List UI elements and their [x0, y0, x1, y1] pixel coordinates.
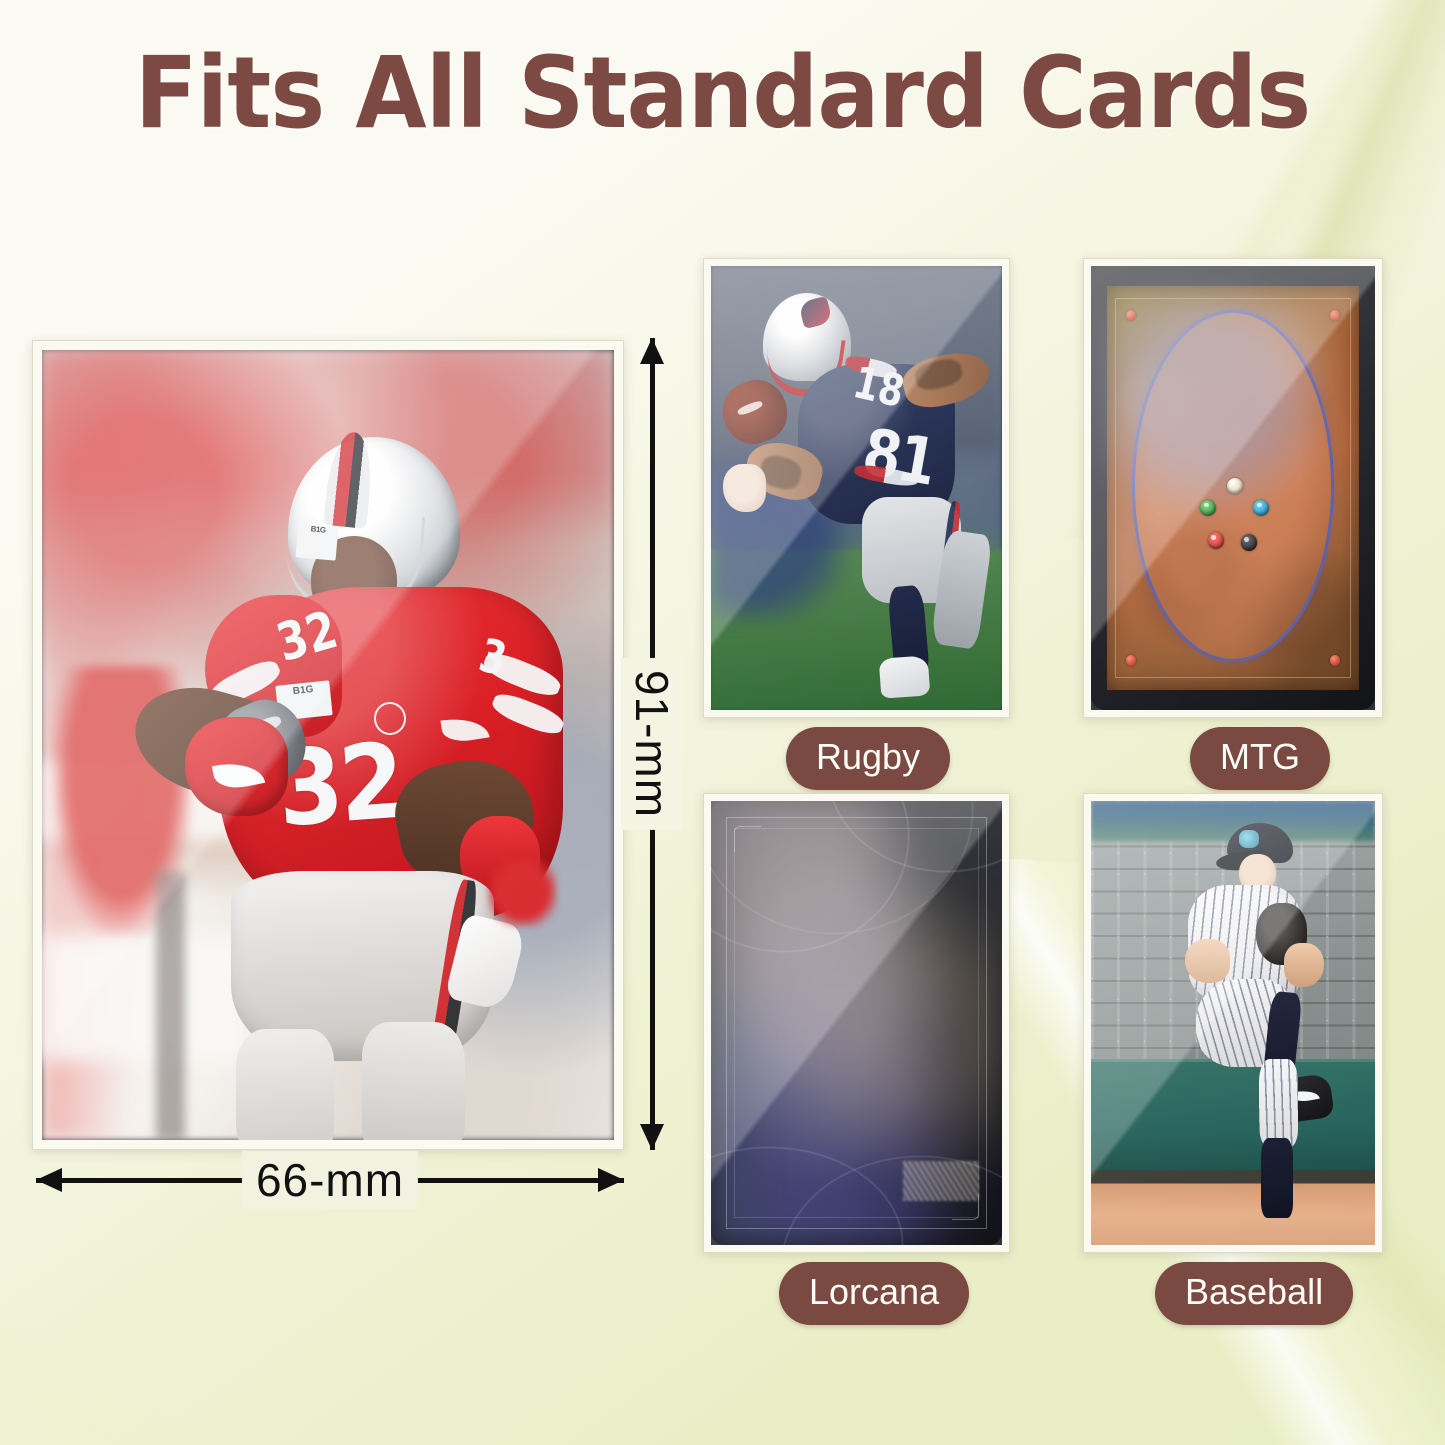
- card-face-rugby: 18 81: [711, 266, 1002, 710]
- leg-left: [236, 1029, 333, 1140]
- pitcher-sock-lower: [1261, 1138, 1292, 1218]
- mtg-corner-dot-top-left: [1126, 310, 1137, 321]
- rugby-hand: [723, 464, 767, 513]
- dimension-height-label: 91-mm: [621, 658, 683, 830]
- card-face-football-main: B1G 32 3 B1G 32: [42, 350, 614, 1140]
- arrowhead-down-icon: [640, 1124, 664, 1150]
- pitcher-arm-right: [1284, 943, 1324, 987]
- helmet-conference-decal: B1G: [295, 524, 338, 561]
- baseball-cap-logo: [1239, 830, 1259, 848]
- mtg-card-border: [1091, 266, 1375, 710]
- pitcher-arm-left: [1185, 939, 1230, 983]
- running-back-figure: B1G 32 3 B1G 32: [42, 350, 614, 1140]
- leg-right: [362, 1022, 465, 1141]
- page-title: Fits All Standard Cards: [51, 36, 1395, 151]
- card-label-lorcana: Lorcana: [779, 1262, 969, 1325]
- mtg-card-interior: [1107, 286, 1360, 690]
- outfield-wall: [1091, 1059, 1375, 1174]
- infield-dirt: [1091, 1170, 1375, 1245]
- lorcana-card-back: [711, 801, 1002, 1245]
- card-label-mtg: MTG: [1190, 727, 1330, 790]
- card-sleeve-mtg: [1083, 258, 1383, 718]
- card-label-rugby: Rugby: [786, 727, 950, 790]
- mana-gem-white-icon: [1227, 478, 1243, 494]
- card-face-lorcana: [711, 801, 1002, 1245]
- mtg-highlight-blur: [1112, 298, 1324, 516]
- dimension-width: 66-mm: [36, 1168, 624, 1192]
- arrowhead-right-icon: [598, 1168, 624, 1192]
- dimension-height: 91-mm: [640, 338, 664, 1150]
- card-face-mtg: [1091, 266, 1375, 710]
- card-sleeve-lorcana: [703, 793, 1010, 1253]
- card-sleeve-football-main: B1G 32 3 B1G 32: [32, 340, 624, 1150]
- shoe-blur: [488, 856, 557, 927]
- mana-gem-red-icon: [1208, 532, 1224, 548]
- card-sleeve-rugby: 18 81: [703, 258, 1010, 718]
- infographic-canvas: Fits All Standard Cards B1G: [0, 0, 1445, 1445]
- mana-gem-black-icon: [1241, 534, 1257, 550]
- mtg-corner-dot-bottom-left: [1126, 655, 1137, 666]
- rugby-cleat: [878, 655, 930, 698]
- lorcana-frame-inner: [734, 828, 978, 1219]
- card-sleeve-baseball: [1083, 793, 1383, 1253]
- card-face-baseball: [1091, 801, 1375, 1245]
- dimension-width-label: 66-mm: [242, 1151, 418, 1209]
- pitcher-standing-pant: [1259, 1059, 1299, 1148]
- rugby-shoulder-number: 18: [849, 361, 908, 415]
- card-label-baseball: Baseball: [1155, 1262, 1353, 1325]
